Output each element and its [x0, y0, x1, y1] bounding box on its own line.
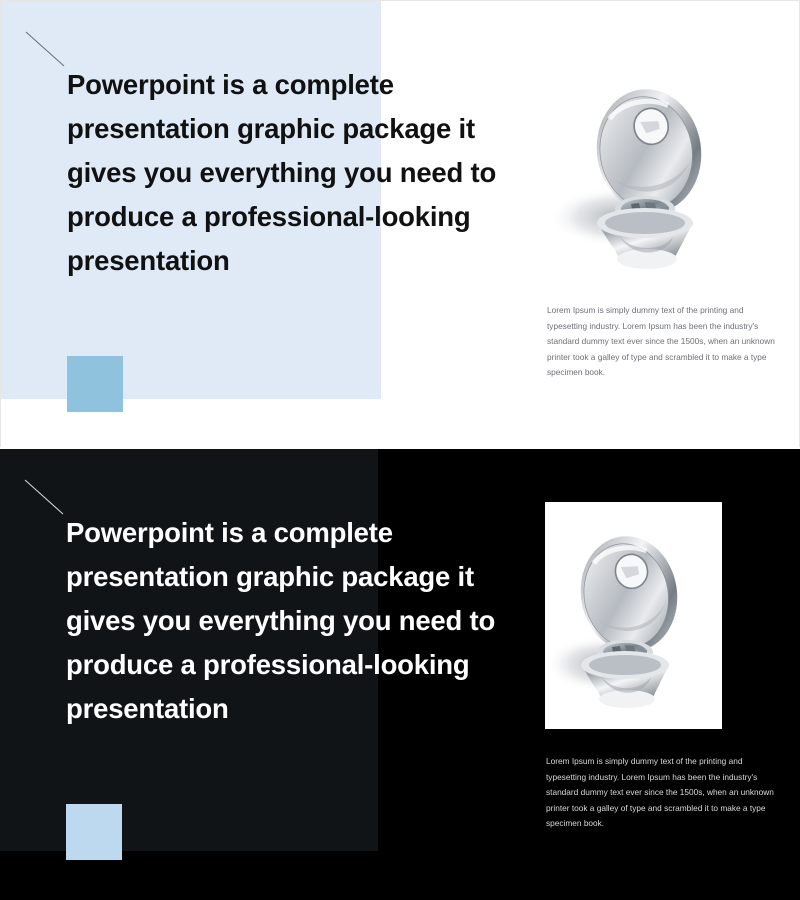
- slide-light-key-image: [541, 59, 781, 281]
- slide-deck: Powerpoint is a complete presentation gr…: [0, 0, 800, 900]
- slide-light-body-text: Lorem Ipsum is simply dummy text of the …: [547, 303, 775, 381]
- slide-dark-accent-square: [66, 804, 122, 860]
- slide-dark[interactable]: Powerpoint is a complete presentation gr…: [0, 449, 800, 900]
- slide-dark-body-text: Lorem Ipsum is simply dummy text of the …: [546, 754, 774, 832]
- slide-light-headline: Powerpoint is a complete presentation gr…: [67, 63, 537, 283]
- slide-light[interactable]: Powerpoint is a complete presentation gr…: [0, 0, 800, 447]
- slide-dark-key-image: [545, 502, 722, 729]
- slide-dark-headline: Powerpoint is a complete presentation gr…: [66, 511, 536, 731]
- slide-light-accent-square: [67, 356, 123, 412]
